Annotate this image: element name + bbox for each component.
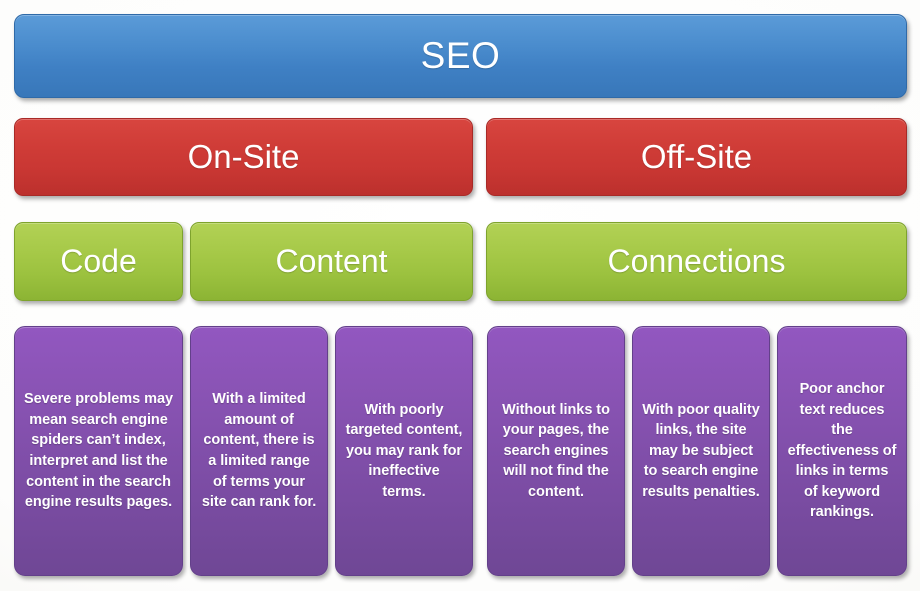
seo-hierarchy-diagram: SEO On-Site Off-Site Code Content Connec… bbox=[0, 0, 920, 591]
node-detail-content-poorly-targeted-label: With poorly targeted content, you may ra… bbox=[336, 400, 472, 503]
node-content-label: Content bbox=[191, 243, 472, 281]
node-seo-root[interactable]: SEO bbox=[14, 14, 907, 98]
node-on-site-label: On-Site bbox=[15, 138, 472, 177]
node-off-site[interactable]: Off-Site bbox=[486, 118, 907, 196]
node-detail-code-severe-problems-label: Severe problems may mean search engine s… bbox=[15, 389, 182, 512]
node-code-label: Code bbox=[15, 243, 182, 281]
node-on-site[interactable]: On-Site bbox=[14, 118, 473, 196]
node-detail-connections-poor-anchor[interactable]: Poor anchor text reduces the effectivene… bbox=[777, 326, 907, 576]
node-seo-root-label: SEO bbox=[15, 34, 906, 78]
node-code[interactable]: Code bbox=[14, 222, 183, 301]
node-detail-connections-without-links-label: Without links to your pages, the search … bbox=[488, 400, 624, 503]
node-content[interactable]: Content bbox=[190, 222, 473, 301]
node-detail-content-limited-amount[interactable]: With a limited amount of content, there … bbox=[190, 326, 328, 576]
node-connections-label: Connections bbox=[487, 243, 906, 281]
node-connections[interactable]: Connections bbox=[486, 222, 907, 301]
node-detail-connections-poor-quality-label: With poor quality links, the site may be… bbox=[633, 400, 769, 503]
node-detail-content-poorly-targeted[interactable]: With poorly targeted content, you may ra… bbox=[335, 326, 473, 576]
node-detail-connections-poor-anchor-label: Poor anchor text reduces the effectivene… bbox=[778, 379, 906, 523]
node-detail-content-limited-amount-label: With a limited amount of content, there … bbox=[191, 389, 327, 512]
node-detail-connections-poor-quality[interactable]: With poor quality links, the site may be… bbox=[632, 326, 770, 576]
node-detail-connections-without-links[interactable]: Without links to your pages, the search … bbox=[487, 326, 625, 576]
node-off-site-label: Off-Site bbox=[487, 138, 906, 177]
node-detail-code-severe-problems[interactable]: Severe problems may mean search engine s… bbox=[14, 326, 183, 576]
